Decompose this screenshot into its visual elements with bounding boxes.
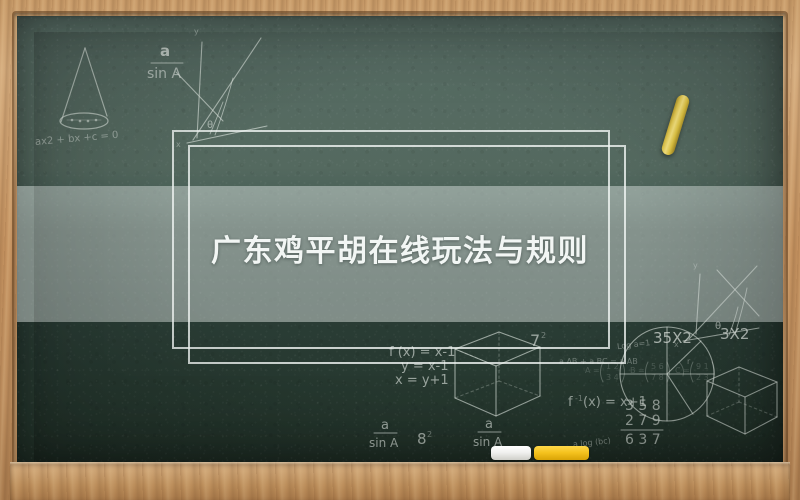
svg-text:1 2: 1 2 [606,362,619,371]
chalkboard-surface: a sin A y x θ ax2 + bx +c = 0 [17,16,783,463]
svg-text:f (x) = x-1: f (x) = x-1 [389,345,455,360]
svg-text:B =: B = [630,366,645,375]
inner-rectangle [188,145,626,364]
chalkboard-title-card: a sin A y x θ ax2 + bx +c = 0 [0,0,800,500]
board-vignette [34,32,783,463]
svg-text:-1: -1 [575,394,583,403]
angle-diagram-right: y x θ [674,261,759,349]
log-note-right: Log a=1 [616,338,650,351]
axis-label-y: y [194,27,199,36]
svg-text:(x) = x+1: (x) = x+1 [583,395,647,410]
title-container: 广东鸡平胡在线玩法与规则 [17,226,783,270]
svg-text:6 3 7: 6 3 7 [625,432,661,448]
law-of-sines-numerator-bc: a [485,417,493,432]
square-seven-exponent: 2 [541,331,546,340]
svg-text:r: r [687,357,691,366]
svg-text:A =: A = [585,366,600,375]
outer-rectangle [172,130,610,349]
multiplication-note-2: 3X2 [720,325,749,343]
svg-text:3 5 8: 3 5 8 [625,398,661,414]
white-chalk-piece-icon [491,446,531,460]
function-equations: f (x) = x-1 y = x-1 x = y+1 [389,345,455,388]
svg-text:9 1: 9 1 [696,362,709,371]
axis-label-x-right: x [674,340,679,349]
law-of-sines-denominator-bl: sin A [369,436,399,450]
axis-label-y-right: y [693,261,698,270]
svg-text:3 4: 3 4 [606,373,619,382]
law-of-sines-denominator: sin A [147,66,182,82]
circle-diagram: r [620,327,714,421]
svg-text:5 6: 5 6 [651,362,664,371]
square-eight: 8 [417,430,427,448]
page-title: 广东鸡平胡在线玩法与规则 [211,226,589,270]
translucent-highlight-band [17,186,783,322]
cube-diagram-right [707,367,777,434]
svg-text:y = x-1: y = x-1 [401,359,449,374]
multiplication-note-1: 35X2 [653,329,692,347]
angle-label-theta-right: θ [715,321,721,332]
quadratic-equation: ax2 + bx +c = 0 [35,130,119,148]
yellow-chalk-piece-icon [534,446,589,460]
ledge-top-edge [10,462,790,465]
cone-diagram [60,48,108,129]
angle-label-theta: θ [207,120,213,131]
axis-label-x: x [176,140,181,149]
svg-text:C =: C = [675,366,690,375]
svg-text:x = y+1: x = y+1 [395,373,449,388]
addition-stack: 3 5 8 2 7 9 6 3 7 [621,398,663,448]
svg-text:2 3: 2 3 [696,373,709,382]
inverse-function: f [568,395,573,410]
square-seven: 7 [530,331,540,350]
svg-text:7 8: 7 8 [651,373,664,382]
chalk-ledge [10,462,790,500]
angle-diagram-left: y x θ [176,27,267,149]
square-eight-exponent: 2 [427,430,432,439]
cube-diagram-center [455,332,540,416]
vector-note: a AB + a BC = a AB [559,357,638,366]
yellow-chalk-stick-icon [660,93,691,156]
matrix-equation-row: A = 1 2 3 4 B = 5 6 7 8 C = 9 1 2 3 [585,362,715,382]
decorative-frame-rectangles [17,16,783,463]
svg-text:2 7 9: 2 7 9 [625,413,661,429]
law-of-sines-numerator-bl: a [381,418,389,433]
chalk-drawings-layer: a sin A y x θ ax2 + bx +c = 0 [17,16,783,463]
law-of-sines-numerator: a [160,42,170,60]
